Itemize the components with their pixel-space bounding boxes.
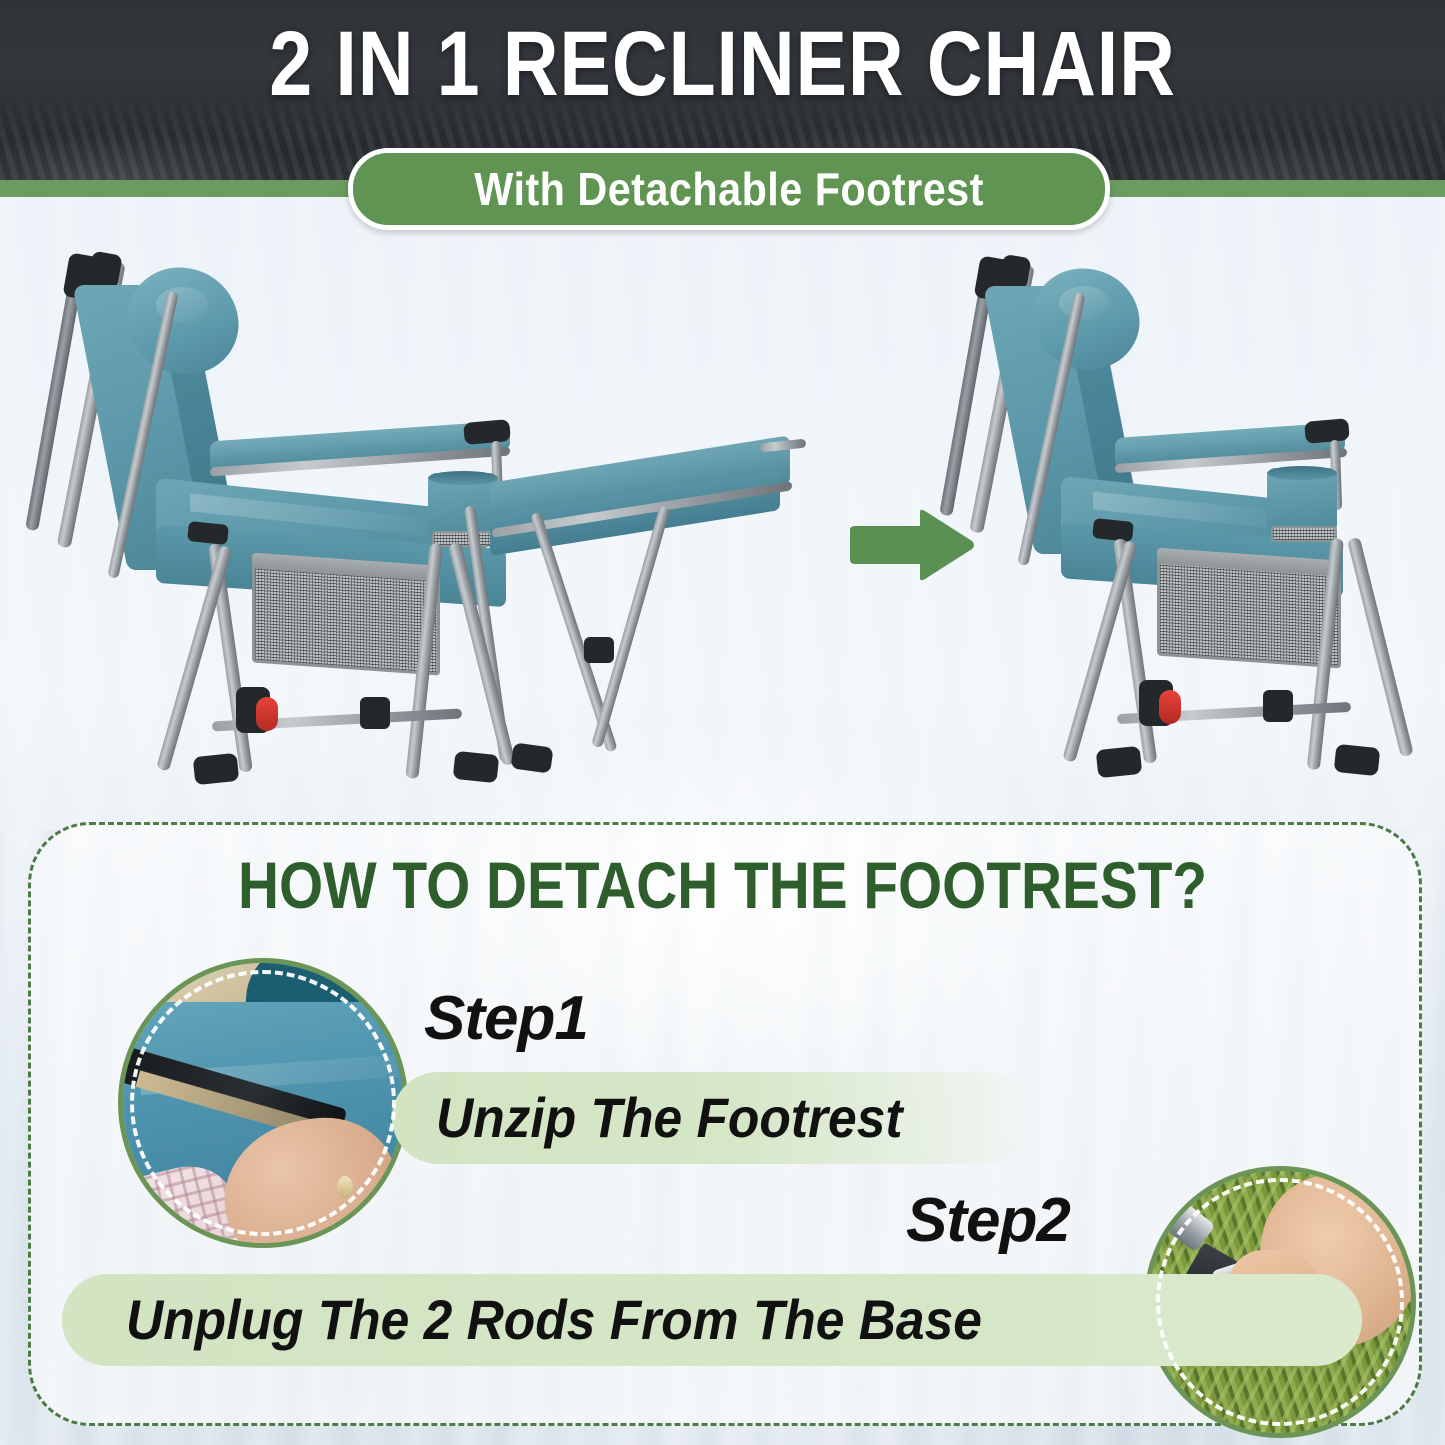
step-1-number: Step1 — [424, 988, 588, 1050]
infographic-page: 2 IN 1 RECLINER CHAIR With Detachable Fo… — [0, 0, 1445, 1445]
subtitle-badge-label: With Detachable Footrest — [474, 166, 984, 212]
chair-with-footrest — [60, 245, 840, 790]
step-1-instruction: Unzip The Footrest — [436, 1090, 903, 1146]
step-2-instruction: Unplug The 2 Rods From The Base — [126, 1292, 982, 1348]
arrow-right-icon — [846, 508, 976, 582]
page-title: 2 IN 1 RECLINER CHAIR — [116, 18, 1330, 110]
step-2-instruction-pill: Unplug The 2 Rods From The Base — [62, 1274, 1362, 1366]
step-1-instruction-pill: Unzip The Footrest — [392, 1072, 1032, 1164]
safety-latch-icon-2 — [1159, 690, 1181, 724]
step-2-number: Step2 — [906, 1190, 1070, 1252]
unzip-footrest-photo — [118, 958, 408, 1248]
safety-latch-icon — [256, 697, 278, 731]
subtitle-badge: With Detachable Footrest — [348, 148, 1110, 230]
chair-without-footrest — [975, 250, 1375, 790]
how-to-panel-title: HOW TO DETACH THE FOOTREST? — [101, 852, 1344, 918]
